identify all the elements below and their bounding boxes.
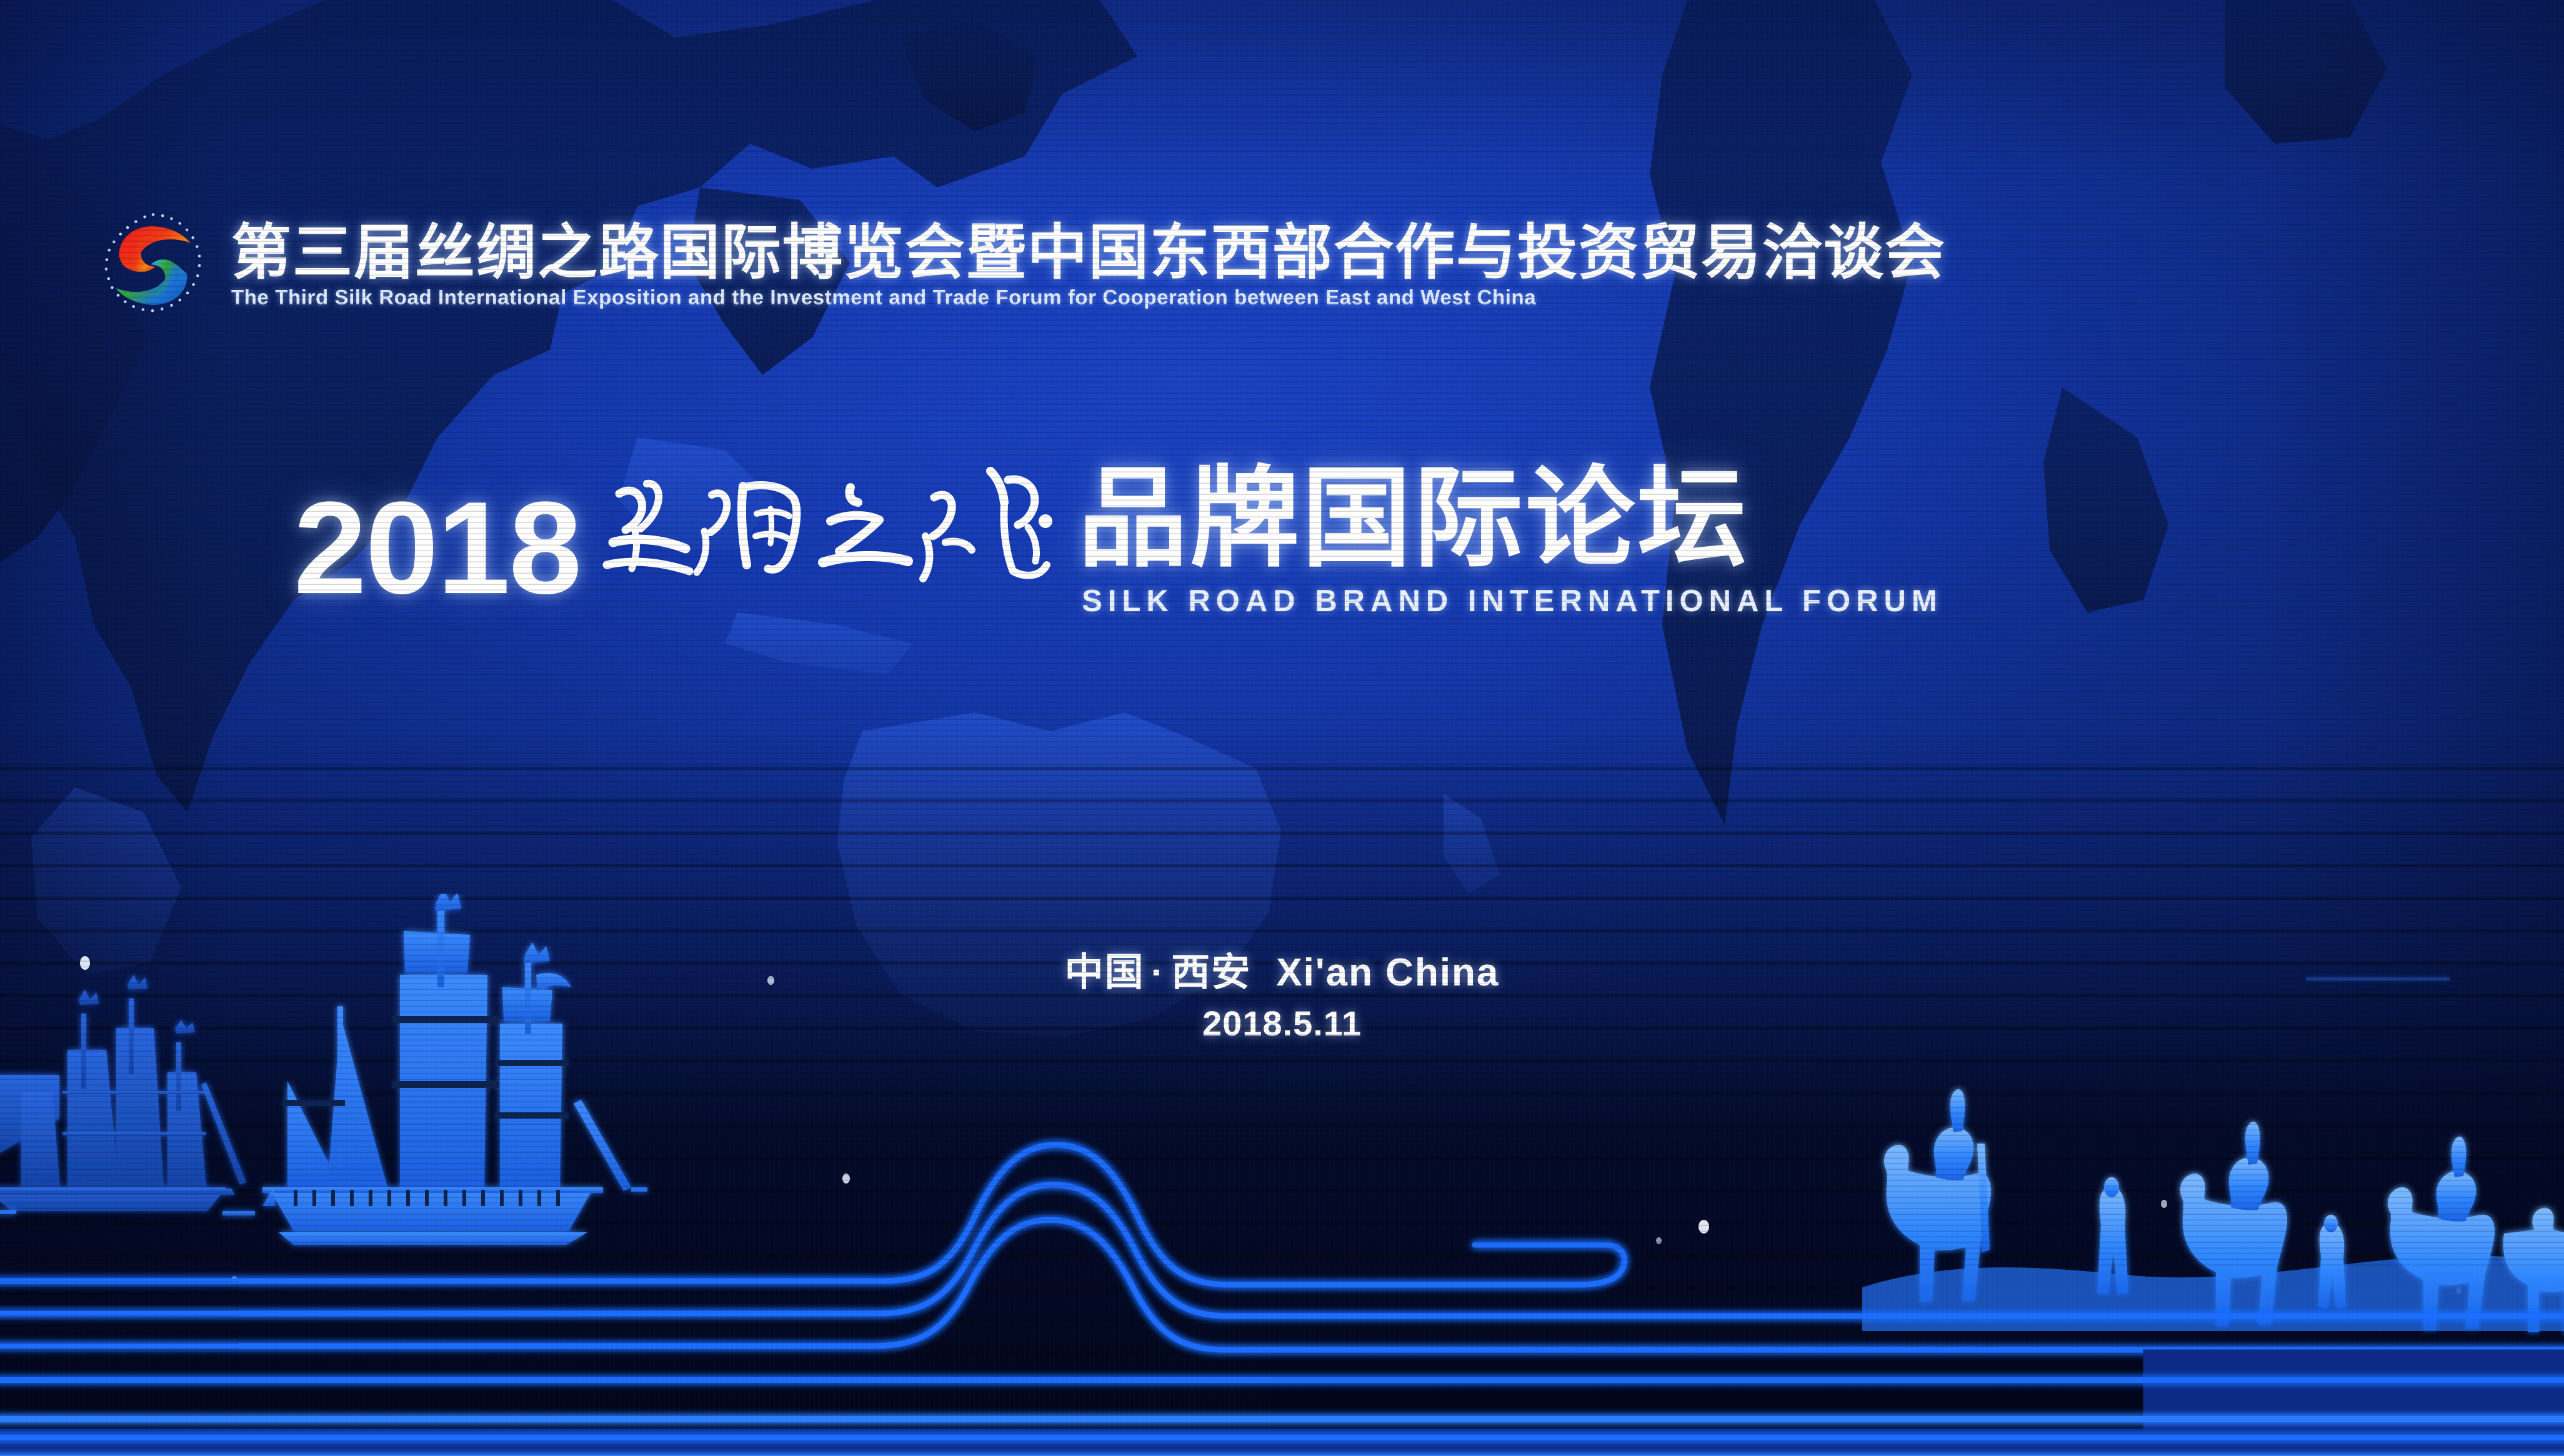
led-backdrop-screen: 第三届丝绸之路国际博览会暨中国东西部合作与投资贸易洽谈会 The Third S…: [0, 0, 2564, 1456]
led-scanline-overlay: [0, 0, 2564, 1456]
